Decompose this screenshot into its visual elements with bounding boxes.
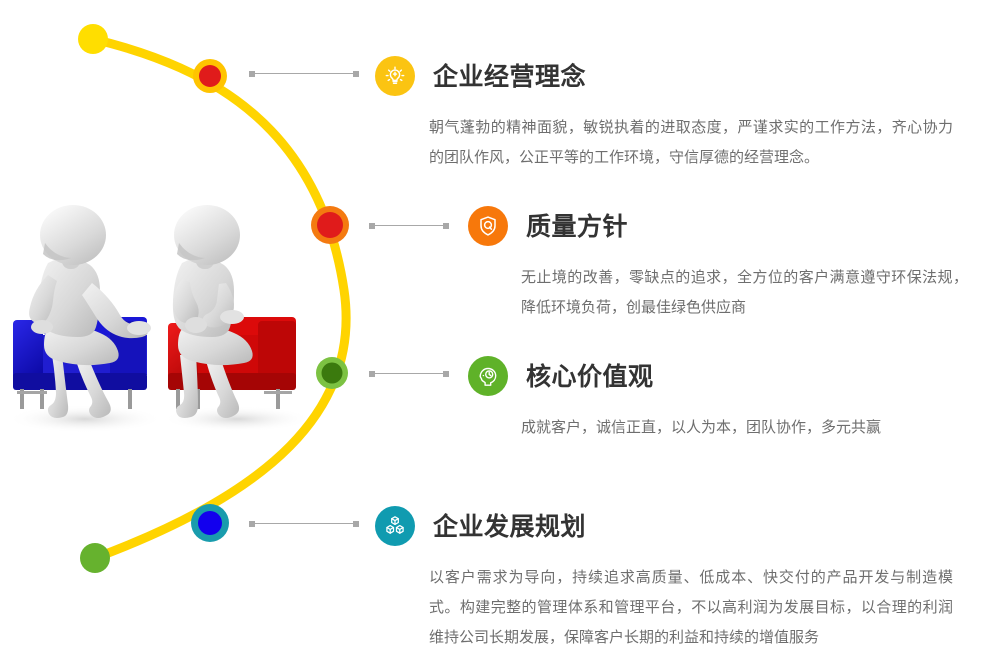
connector-cap-right (443, 371, 449, 377)
section-core-values-title: 核心价值观 (526, 364, 654, 389)
section-philosophy-header: 企业经营理念 (375, 54, 953, 98)
connector-to-quality (369, 222, 449, 229)
infographic-canvas: 企业经营理念 朝气蓬勃的精神面貌，敏锐执着的进取态度，严谨求实的工作方法，齐心协… (0, 0, 1008, 662)
connector-to-philosophy (249, 70, 359, 77)
section-quality-title: 质量方针 (526, 214, 628, 239)
section-philosophy-title: 企业经营理念 (433, 64, 586, 89)
section-core-values: 核心价值观 成就客户，诚信正直，以人为本，团队协作，多元共赢 (468, 354, 968, 442)
floor-shadow-left (7, 405, 163, 433)
arc-node-red-top (193, 59, 227, 93)
section-development-plan: 企业发展规划 以客户需求为导向，持续追求高质量、低成本、快交付的产品开发与制造模… (375, 504, 953, 652)
section-core-values-header: 核心价值观 (468, 354, 968, 398)
arc-node-blue-planning (191, 504, 229, 542)
head-gear-icon (468, 356, 508, 396)
connector-cap-right (353, 521, 359, 527)
people-on-sofas-illustration (0, 205, 345, 440)
section-quality-body: 无止境的改善，零缺点的追求，全方位的客户满意遵守环保法规，降低环境负荷，创最佳绿… (521, 262, 968, 322)
section-development-plan-body: 以客户需求为导向，持续追求高质量、低成本、快交付的产品开发与制造模式。构建完整的… (429, 562, 953, 652)
section-core-values-body: 成就客户，诚信正直，以人为本，团队协作，多元共赢 (521, 412, 968, 442)
connector-rail (255, 73, 353, 74)
connector-to-planning (249, 520, 359, 527)
section-development-plan-header: 企业发展规划 (375, 504, 953, 548)
arc-node-end-green (80, 543, 110, 573)
section-quality-header: 质量方针 (468, 204, 968, 248)
lightbulb-icon (375, 56, 415, 96)
connector-cap-right (443, 223, 449, 229)
connector-cap-right (353, 71, 359, 77)
section-philosophy-body: 朝气蓬勃的精神面貌，敏锐执着的进取态度，严谨求实的工作方法，齐心协力的团队作风，… (429, 112, 953, 172)
connector-rail (255, 523, 353, 524)
connector-to-values (369, 370, 449, 377)
arc-node-start-yellow (78, 24, 108, 54)
section-philosophy: 企业经营理念 朝气蓬勃的精神面貌，敏锐执着的进取态度，严谨求实的工作方法，齐心协… (375, 54, 953, 172)
connector-rail (375, 225, 443, 226)
section-development-plan-title: 企业发展规划 (433, 514, 586, 539)
connector-rail (375, 373, 443, 374)
stacked-cubes-icon (375, 506, 415, 546)
shield-quality-icon (468, 206, 508, 246)
section-quality: 质量方针 无止境的改善，零缺点的追求，全方位的客户满意遵守环保法规，降低环境负荷… (468, 204, 968, 322)
